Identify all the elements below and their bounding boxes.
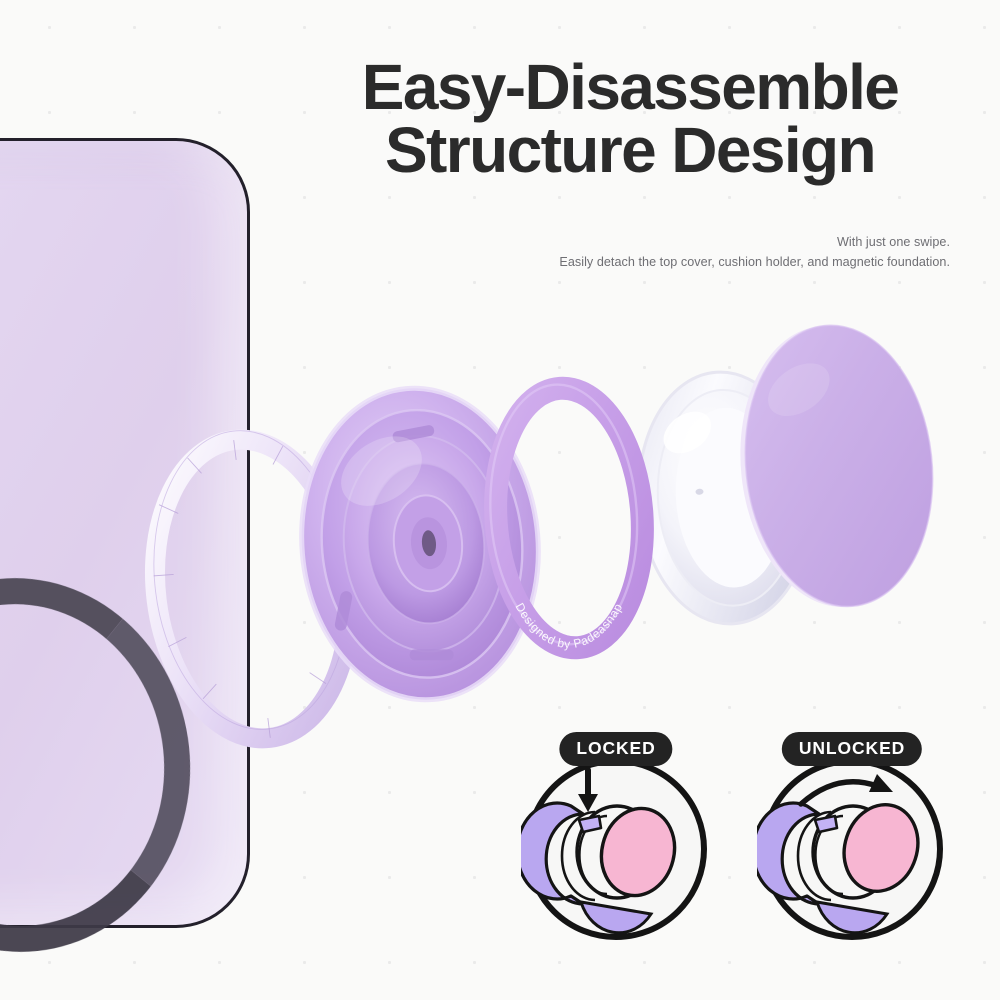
- subtitle-line-1: With just one swipe.: [559, 232, 950, 252]
- unlocked-badge: UNLOCKED: [782, 732, 922, 766]
- headline-line-1: Easy-Disassemble: [300, 56, 960, 119]
- top-cover: [735, 316, 941, 616]
- locked-state-panel: LOCKED: [516, 732, 716, 967]
- unlocked-state-panel: UNLOCKED: [742, 732, 962, 967]
- subtitle-line-2: Easily detach the top cover, cushion hol…: [559, 252, 950, 272]
- branded-ring: Designed by Padeasnap: [472, 374, 666, 662]
- subtitle: With just one swipe. Easily detach the t…: [559, 232, 950, 273]
- locked-illustration: [521, 754, 711, 944]
- headline-line-2: Structure Design: [300, 119, 960, 182]
- locked-badge: LOCKED: [559, 732, 672, 766]
- product-marketing-image: Easy-Disassemble Structure Design With j…: [0, 0, 1000, 1000]
- unlocked-illustration: [757, 754, 947, 944]
- page-title: Easy-Disassemble Structure Design: [300, 56, 960, 181]
